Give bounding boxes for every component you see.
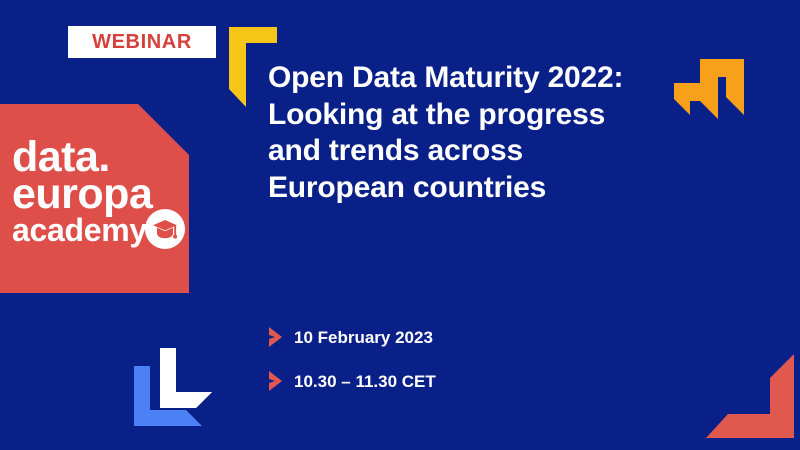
logo-line-academy: academy [12,214,147,246]
page-title: Open Data Maturity 2022: Looking at the … [268,60,648,206]
event-time-row: 10.30 – 11.30 CET [268,366,436,396]
chevron-right-icon [268,326,286,348]
data-europa-academy-logo: data. europa academy [0,104,189,293]
bottom-right-corner-bracket-icon [702,352,800,442]
graduation-cap-icon [145,209,185,249]
logo-wordmark: data. europa academy [12,136,182,266]
event-date-row: 10 February 2023 [268,322,436,352]
orange-double-chevron-icon [674,53,758,137]
bottom-left-corner-brackets-icon [130,338,230,438]
webinar-badge: WEBINAR [68,26,216,58]
event-time-text: 10.30 – 11.30 CET [294,373,436,390]
event-details: 10 February 2023 10.30 – 11.30 CET [268,322,436,396]
webinar-badge-label: WEBINAR [92,32,192,52]
chevron-right-icon [268,370,286,392]
logo-line-europa: europa [12,173,152,216]
webinar-promo-banner: WEBINAR data. europa academy [0,0,800,450]
event-date-text: 10 February 2023 [294,329,433,346]
